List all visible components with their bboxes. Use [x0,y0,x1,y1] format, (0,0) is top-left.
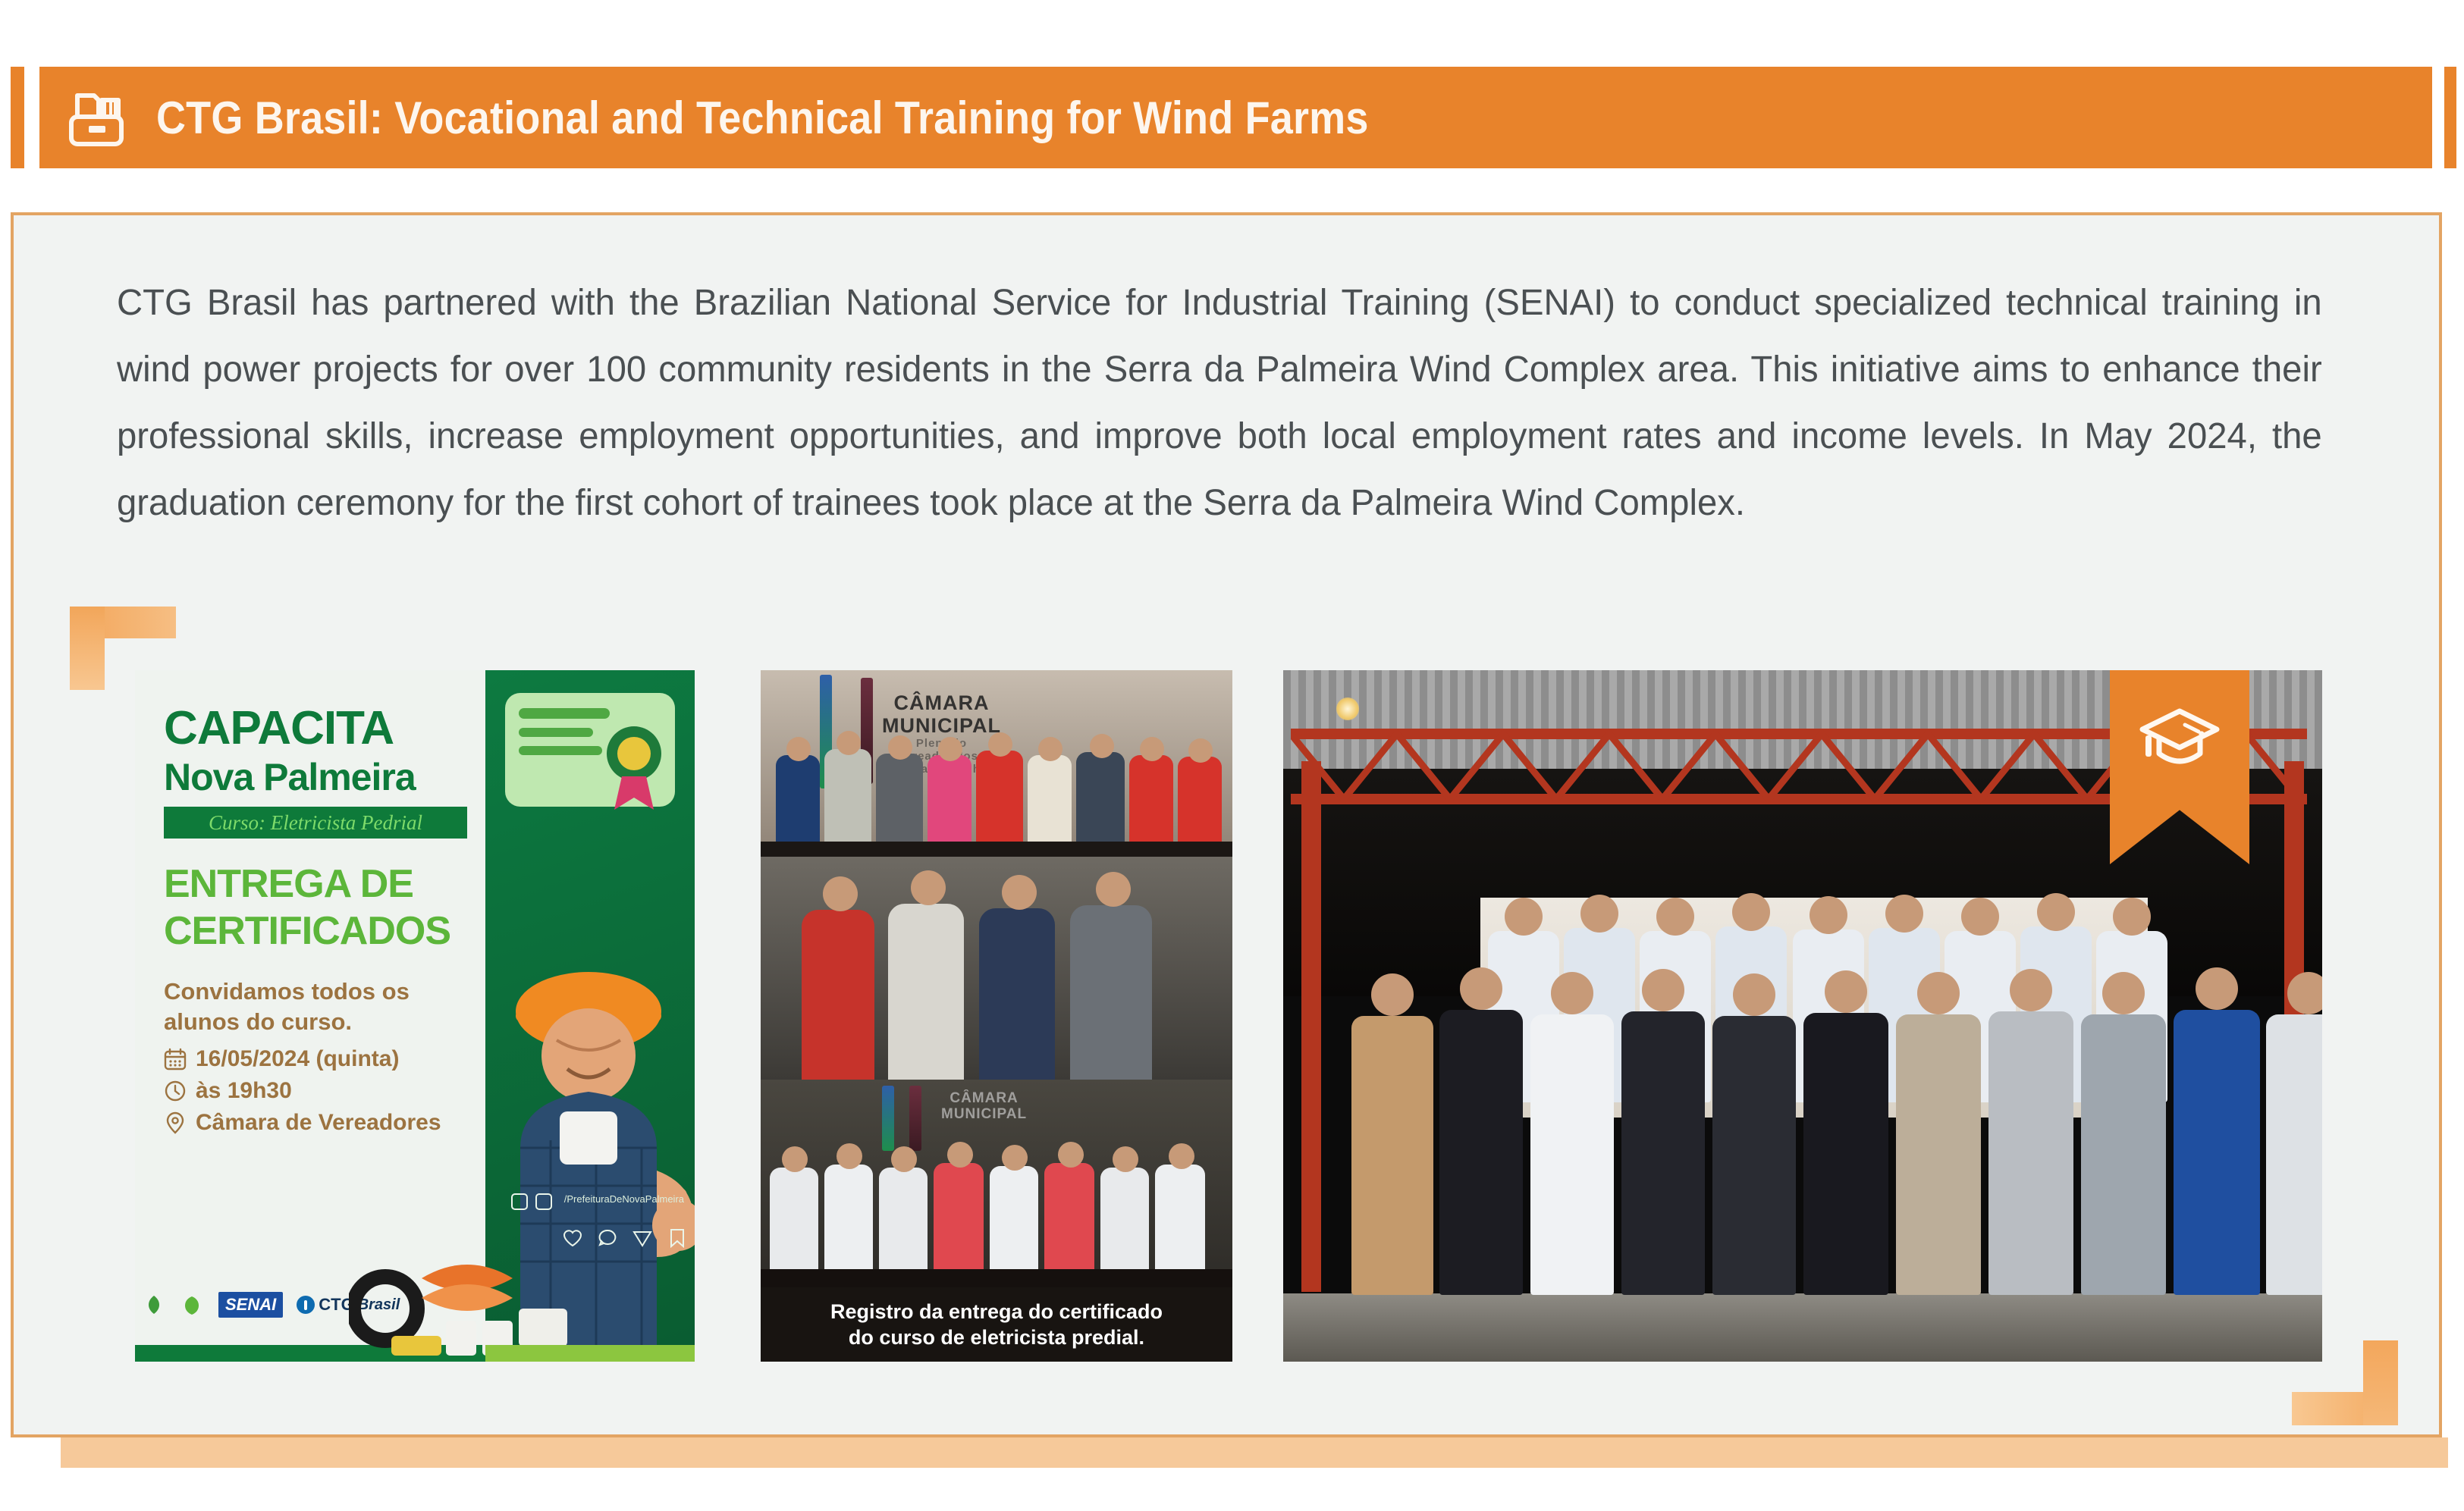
body-paragraph: CTG Brasil has partnered with the Brazil… [117,270,2322,537]
graduation-cap-icon [2138,705,2221,775]
attendee-front-5 [1712,973,1796,1295]
poster-time-text: às 19h30 [196,1078,292,1104]
facebook-icon [511,1193,528,1210]
header-spacer [24,67,39,168]
poster-invite-line-2: alunos do curso. [164,1007,485,1037]
collage-panel-top: CÂMARA MUNICIPAL Plenário Vereador Jose … [761,670,1232,857]
header-accent-bar-right [2444,67,2456,168]
attendee-front-3 [1530,972,1614,1295]
attendee-front-9 [2081,972,2166,1295]
senai-logo: SENAI [218,1292,283,1318]
collage-caption: Registro da entrega do certificado do cu… [761,1287,1232,1362]
electrical-supplies-illustration [349,1187,592,1362]
panel-shadow-band [61,1437,2448,1468]
location-pin-icon [164,1111,187,1134]
poster-place-text: Câmara de Vereadores [196,1110,441,1136]
poster-event-details: 16/05/2024 (quinta) às 19h30 Câmara de V… [164,1046,485,1136]
nova-palmeira-logo [143,1292,165,1318]
caption-line-2: do curso de eletricista predial. [849,1324,1144,1350]
poster-subtitle: Nova Palmeira [164,755,485,799]
comment-icon [598,1228,617,1248]
file-box-icon [67,86,126,149]
caption-line-1: Registro da entrega do certificado [830,1299,1163,1324]
poster-event-line-2: CERTIFICADOS [164,908,485,954]
image-row: CAPACITA Nova Palmeira Curso: Eletricist… [0,661,2464,1366]
attendee-front-1 [1351,973,1433,1295]
instagram-icon [535,1193,552,1210]
ceiling-lamp-left [1336,698,1359,720]
poster-right-column: /PrefeituraDeNovaPalmeira [485,670,695,1362]
poster-course-band: Curso: Eletricista Pedrial [164,807,467,839]
attendee-front-11 [2266,972,2322,1295]
poster-event-line-1: ENTREGA DE [164,861,485,907]
poster-time-row: às 19h30 [164,1078,485,1104]
attendee-front-2 [1439,967,1523,1295]
page-title: CTG Brasil: Vocational and Technical Tra… [156,92,1369,144]
social-handle: /PrefeituraDeNovaPalmeira [564,1193,684,1210]
ctg-mark-icon [297,1296,315,1314]
poster-date-text: 16/05/2024 (quinta) [196,1046,399,1072]
floor [1283,1293,2322,1362]
poster-footer-bar-green [485,1345,695,1362]
header-bar: CTG Brasil: Vocational and Technical Tra… [39,67,2432,168]
attendee-front-4 [1621,969,1705,1295]
attendee-front-6 [1803,970,1888,1295]
heart-icon [563,1228,582,1248]
poster-invite-line-1: Convidamos todos os [164,977,485,1007]
sinais-logo [179,1292,205,1318]
calendar-icon [164,1048,187,1071]
support-pole-left [1301,761,1321,1292]
graduation-group-photo-image [1283,670,2322,1362]
header-accent-bar-left [11,67,24,168]
bookmark-icon [667,1228,687,1248]
certificate-illustration [501,688,680,822]
send-icon [632,1228,652,1248]
clock-icon [164,1080,187,1102]
poster-social-row: /PrefeituraDeNovaPalmeira [511,1193,684,1210]
certificate-ceremony-collage-image: CÂMARA MUNICIPAL Plenário Vereador Jose … [761,670,1232,1362]
page-header: CTG Brasil: Vocational and Technical Tra… [0,67,2464,168]
collage-panel-middle [761,857,1232,1080]
attendee-front-7 [1896,972,1981,1295]
poster-social-actions [563,1228,687,1248]
poster-place-row: Câmara de Vereadores [164,1110,485,1136]
attendee-front-8 [1988,969,2073,1295]
poster-date-row: 16/05/2024 (quinta) [164,1046,485,1072]
attendee-front-10 [2174,967,2260,1295]
slide-page: CTG Brasil: Vocational and Technical Tra… [0,0,2464,1511]
poster-course-label: Curso: Eletricista Pedrial [209,811,422,835]
capacita-poster-image: CAPACITA Nova Palmeira Curso: Eletricist… [135,670,695,1362]
poster-title: CAPACITA [164,705,485,752]
